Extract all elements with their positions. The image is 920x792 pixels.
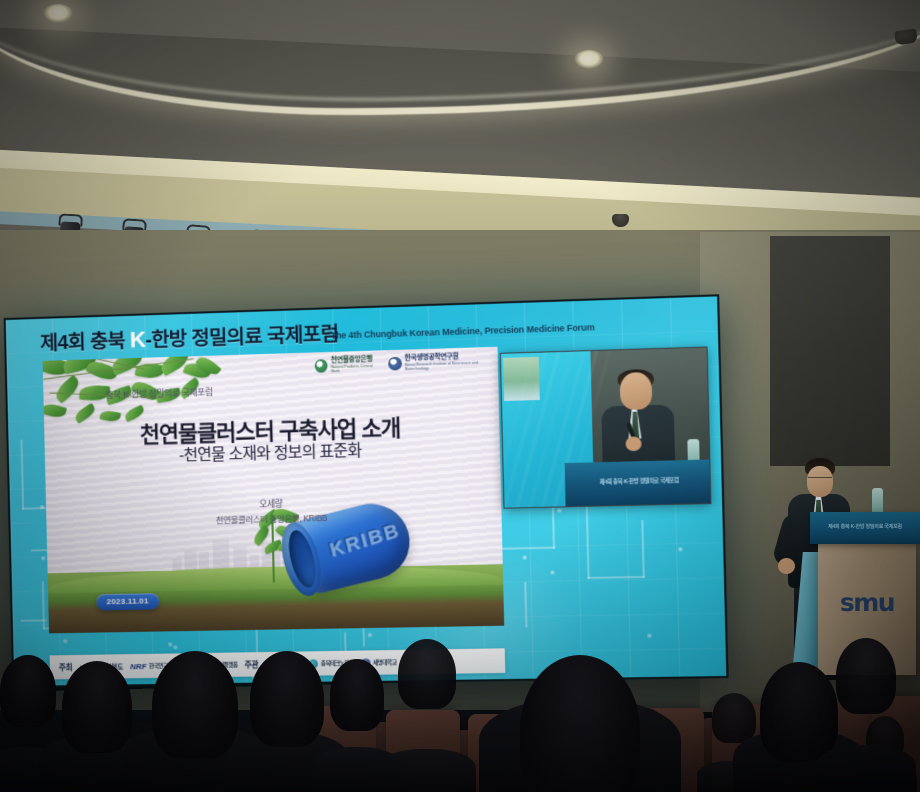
logo-label: 한국생명공학연구원Korea Research Institute of Bio… [404, 353, 498, 371]
logo-label: 천연물중앙은행Natural Products Central Bank [331, 357, 380, 374]
audience-shoulders [378, 749, 475, 792]
forum-title-pre: 제4회 충북 [40, 330, 130, 355]
conference-photo-scene: 제4회 충북 K-한방 정밀의료 국제포럼 The 4th Chungbuk K… [0, 0, 920, 792]
audience-head [760, 662, 838, 762]
slide-content-card: KRIBB 천연물중앙은행Natural Products Central Ba… [43, 347, 505, 634]
recessed-downlight [43, 4, 73, 23]
ceiling-fixture-icon [894, 29, 918, 46]
audience-head [330, 659, 384, 731]
circuit-node [678, 547, 682, 551]
inset-podium-banner: 제4회 충북 K-한방 정밀의료 국제포럼 [565, 476, 711, 487]
audience-head [398, 639, 456, 709]
wall-dark-panel [770, 236, 890, 466]
audience-head [0, 655, 56, 727]
speaker-left-hand [778, 558, 795, 574]
leaf-graphic [52, 375, 82, 404]
kribb-circle-icon [388, 357, 401, 371]
forum-title-ko: 제4회 충북 K-한방 정밀의료 국제포럼 [40, 317, 339, 356]
audience-head [520, 655, 640, 792]
audience-foreground [0, 602, 920, 792]
audience-head [152, 651, 238, 759]
logo-natural-products-bank: 천연물중앙은행Natural Products Central Bank [315, 357, 380, 374]
live-camera-inset: 제4회 충북 K-한방 정밀의료 국제포럼 [500, 346, 712, 508]
leaf-circle-icon [315, 359, 328, 373]
recessed-downlight [574, 50, 604, 69]
circuit-node [522, 555, 526, 559]
glasses-icon [808, 477, 832, 482]
podium-top-banner: 제4회 충북 K-한방 정밀의료 국제포럼 [810, 512, 920, 544]
logo-kribb: 한국생명공학연구원Korea Research Institute of Bio… [388, 353, 498, 372]
audience-head [62, 661, 132, 753]
audience-shoulders [816, 745, 917, 792]
leaf-graphic [43, 402, 67, 420]
audience-head [712, 693, 756, 743]
circuit-node [557, 508, 561, 512]
k-mark-icon: K [130, 326, 146, 352]
podium-banner-text: 제4회 충북 K-한방 정밀의료 국제포럼 [810, 523, 920, 530]
forum-title-en: The 4th Chungbuk Korean Medicine, Precis… [331, 322, 595, 341]
inset-podium: 제4회 충북 K-한방 정밀의료 국제포럼 [565, 459, 712, 506]
circuit-node [550, 570, 554, 574]
forum-title-post: -한방 정밀의료 국제포럼 [145, 323, 339, 351]
audience-head [836, 638, 896, 714]
audience-head [250, 651, 324, 747]
inset-speaker-head [620, 372, 653, 410]
